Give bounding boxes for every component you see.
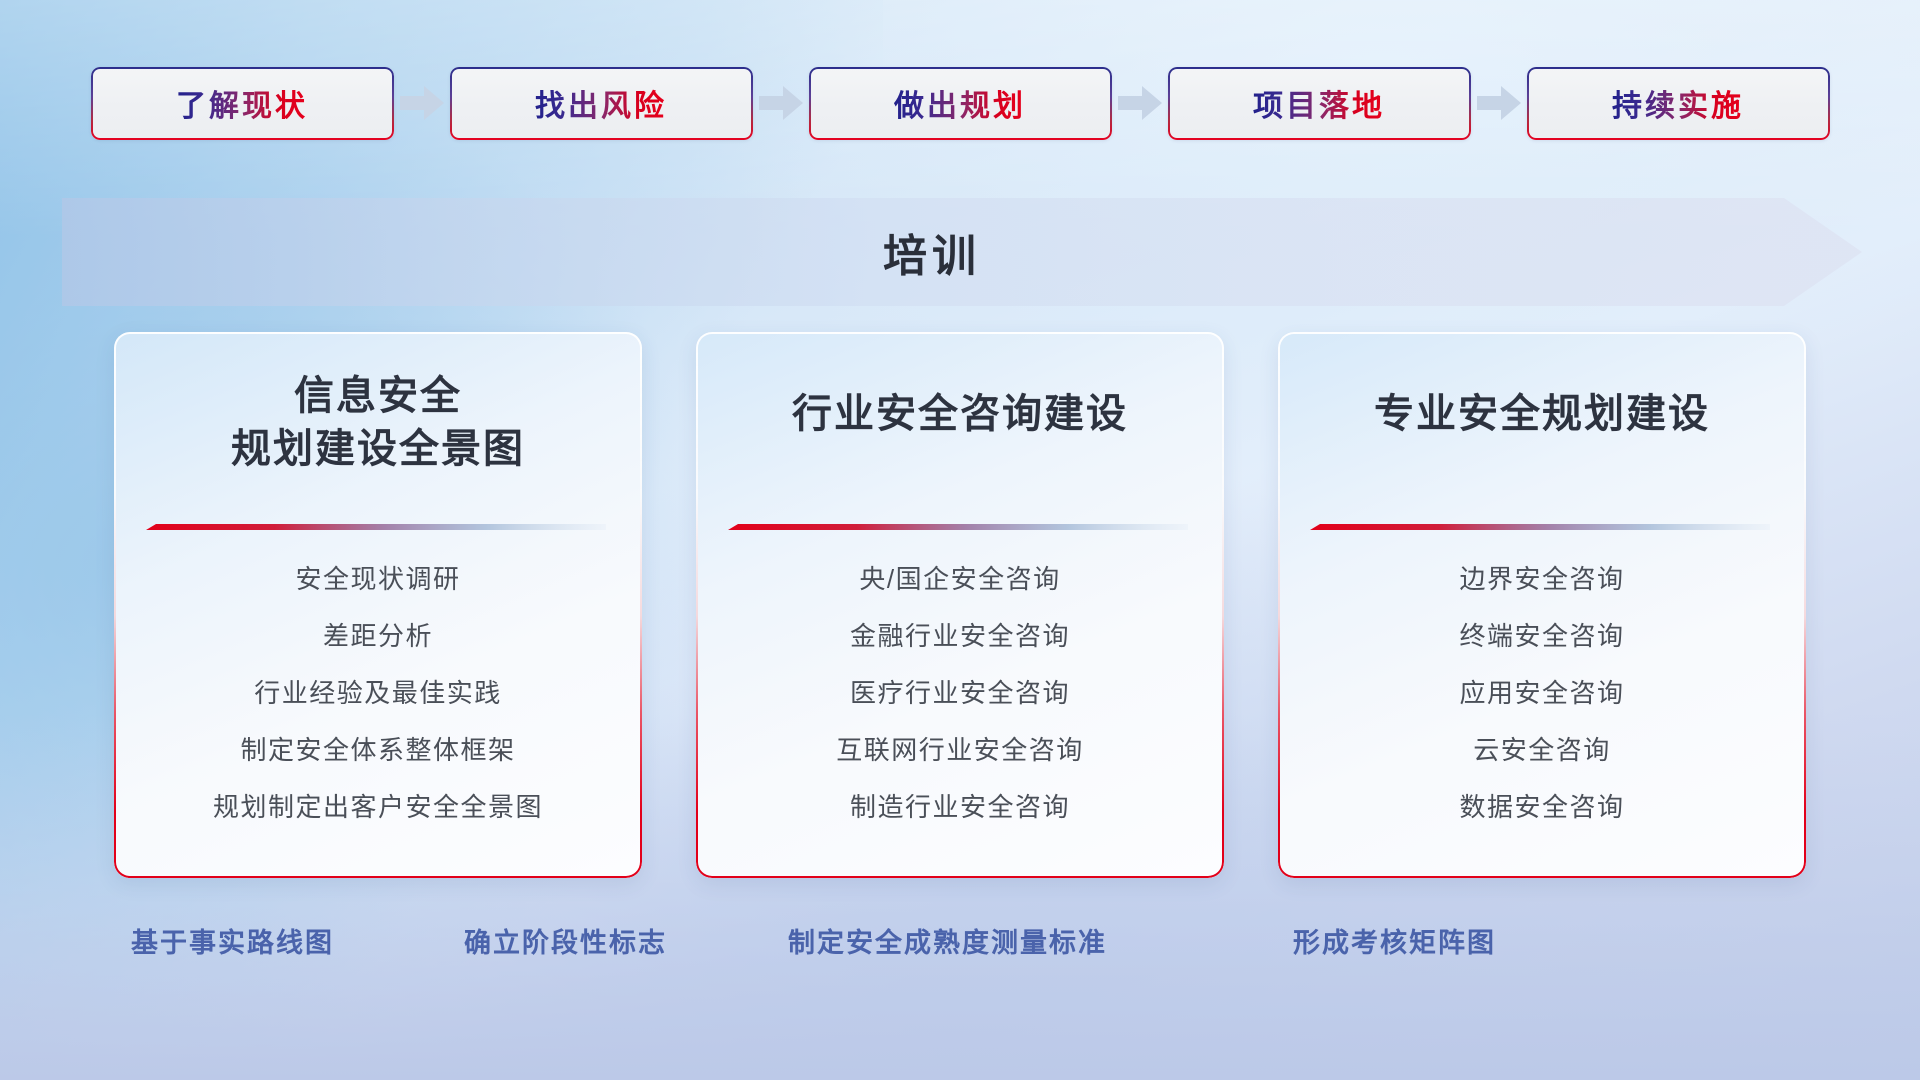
- list-item: 应用安全咨询: [1459, 668, 1624, 718]
- capability-card-2[interactable]: 行业安全咨询建设 央/国企安全咨询 金融行业安全咨询 医疗行业安全咨询: [696, 332, 1224, 878]
- step-connector-arrow-1: [394, 62, 450, 144]
- card-list-3: 边界安全咨询 终端安全咨询 应用安全咨询 云安全咨询 数据安全咨询: [1278, 554, 1806, 832]
- caption-2: 确立阶段性标志: [464, 905, 667, 975]
- banner-title: 培训: [62, 198, 1862, 306]
- list-item: 数据安全咨询: [1459, 782, 1624, 832]
- card-title-1: 信息安全 规划建设全景图: [114, 370, 642, 476]
- card-divider-1: [146, 522, 606, 533]
- list-item: 云安全咨询: [1473, 725, 1611, 775]
- list-item: 制造行业安全咨询: [850, 782, 1070, 832]
- list-item: 差距分析: [323, 611, 433, 661]
- list-item: 互联网行业安全咨询: [836, 725, 1084, 775]
- step-label-4: 项目落地: [1253, 81, 1385, 125]
- capability-card-group: 信息安全 规划建设全景图 安全现状调研 差距分析 行业经验及最佳实践: [0, 332, 1920, 878]
- list-item: 行业经验及最佳实践: [254, 668, 502, 718]
- step-box-1[interactable]: 了解现状: [91, 67, 394, 140]
- capability-card-1[interactable]: 信息安全 规划建设全景图 安全现状调研 差距分析 行业经验及最佳实践: [114, 332, 642, 878]
- step-connector-arrow-4: [1471, 62, 1527, 144]
- step-label-3: 做出规划: [894, 81, 1026, 125]
- list-item: 安全现状调研: [295, 554, 460, 604]
- step-label-5: 持续实施: [1612, 81, 1744, 125]
- list-item: 边界安全咨询: [1459, 554, 1624, 604]
- caption-3: 制定安全成熟度测量标准: [788, 905, 1107, 975]
- step-box-5[interactable]: 持续实施: [1527, 67, 1830, 140]
- card-title-3: 专业安全规划建设: [1278, 388, 1806, 441]
- card-list-1: 安全现状调研 差距分析 行业经验及最佳实践 制定安全体系整体框架 规划制定出客户…: [114, 554, 642, 832]
- list-item: 规划制定出客户安全全景图: [213, 782, 543, 832]
- step-box-3[interactable]: 做出规划: [809, 67, 1112, 140]
- step-connector-arrow-2: [753, 62, 809, 144]
- step-box-4[interactable]: 项目落地: [1168, 67, 1471, 140]
- card-title-2: 行业安全咨询建设: [696, 388, 1224, 441]
- list-item: 金融行业安全咨询: [850, 611, 1070, 661]
- step-label-1: 了解现状: [176, 81, 308, 125]
- card-divider-3: [1310, 522, 1770, 533]
- training-banner-arrow: 培训: [62, 198, 1862, 306]
- process-step-strip: 了解现状 找出风险 做出规划 项目落地 持续实施: [0, 62, 1920, 144]
- list-item: 医疗行业安全咨询: [850, 668, 1070, 718]
- capability-card-3[interactable]: 专业安全规划建设 边界安全咨询 终端安全咨询 应用安全咨询 云安全: [1278, 332, 1806, 878]
- list-item: 终端安全咨询: [1459, 611, 1624, 661]
- list-item: 央/国企安全咨询: [859, 554, 1060, 604]
- card-list-2: 央/国企安全咨询 金融行业安全咨询 医疗行业安全咨询 互联网行业安全咨询 制造行…: [696, 554, 1224, 832]
- step-box-2[interactable]: 找出风险: [450, 67, 753, 140]
- caption-1: 基于事实路线图: [131, 905, 334, 975]
- step-label-2: 找出风险: [535, 81, 667, 125]
- list-item: 制定安全体系整体框架: [240, 725, 515, 775]
- card-divider-2: [728, 522, 1188, 533]
- outcome-caption-row: 基于事实路线图 确立阶段性标志 制定安全成熟度测量标准 形成考核矩阵图: [0, 905, 1920, 975]
- caption-4: 形成考核矩阵图: [1293, 905, 1496, 975]
- step-connector-arrow-3: [1112, 62, 1168, 144]
